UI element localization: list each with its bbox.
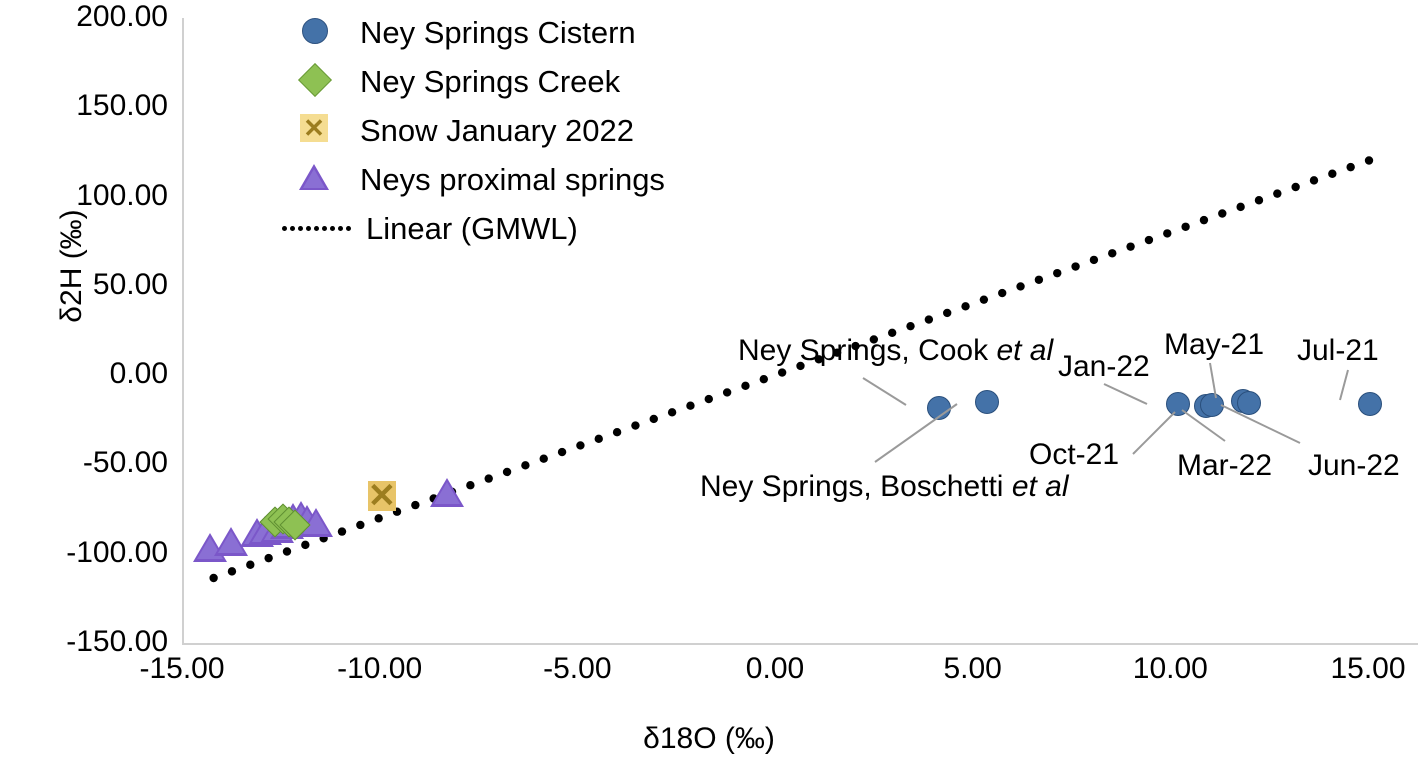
legend-label: Neys proximal springs (360, 159, 665, 201)
data-point-circle (1237, 391, 1261, 415)
annotation-label: Ney Springs, Boschetti et al (700, 470, 1069, 504)
data-point-triangle (430, 478, 464, 507)
x-tick-label: -10.00 (337, 652, 422, 686)
x-axis-title: δ18O (‰) (0, 722, 1418, 756)
data-point-circle (1358, 392, 1382, 416)
annotation-italic: et al (996, 334, 1053, 367)
annotation-italic: et al (1012, 470, 1069, 503)
legend-circle-icon (288, 10, 350, 56)
x-tick-label: 0.00 (746, 652, 804, 686)
annotation-label: Mar-22 (1177, 449, 1272, 483)
x-tick-label: 10.00 (1133, 652, 1208, 686)
annotation-label: Jul-21 (1297, 334, 1379, 368)
legend-label: Snow January 2022 (360, 110, 634, 152)
legend-x-icon: ✕ (288, 108, 350, 154)
y-axis-title: δ2H (‰) (56, 186, 88, 346)
annotation-label: Oct-21 (1029, 438, 1119, 472)
data-point-circle (1200, 393, 1224, 417)
legend-dotted-line-icon (288, 206, 350, 252)
diamond-icon (298, 63, 332, 97)
data-point-circle (1166, 392, 1190, 416)
dotted-line-icon (282, 226, 356, 232)
data-point-x: ✕ (368, 481, 396, 511)
y-axis-line (182, 18, 184, 644)
circle-icon (302, 18, 328, 44)
chart-canvas: 200.00150.00100.0050.000.00-50.00-100.00… (0, 0, 1418, 778)
x-axis-line (182, 643, 1418, 645)
legend-label: Linear (GMWL) (366, 208, 578, 250)
x-tick-label: 5.00 (943, 652, 1001, 686)
annotation-label: Ney Springs, Cook et al (738, 334, 1053, 368)
legend-diamond-icon (288, 59, 350, 105)
legend-label: Ney Springs Cistern (360, 12, 636, 54)
legend-label: Ney Springs Creek (360, 61, 620, 103)
data-point-circle (975, 390, 999, 414)
triangle-icon (299, 164, 329, 190)
x-tick-label: -5.00 (543, 652, 611, 686)
x-icon: ✕ (300, 114, 328, 142)
x-tick-label: -15.00 (139, 652, 224, 686)
x-tick-label: 15.00 (1330, 652, 1405, 686)
data-point-circle (927, 396, 951, 420)
triangle-inner (434, 482, 460, 504)
annotation-label: Jan-22 (1058, 350, 1150, 384)
legend-triangle-icon (288, 157, 350, 203)
triangle-inner (303, 169, 325, 188)
annotation-label: Jun-22 (1308, 449, 1400, 483)
annotation-label: May-21 (1164, 328, 1264, 362)
